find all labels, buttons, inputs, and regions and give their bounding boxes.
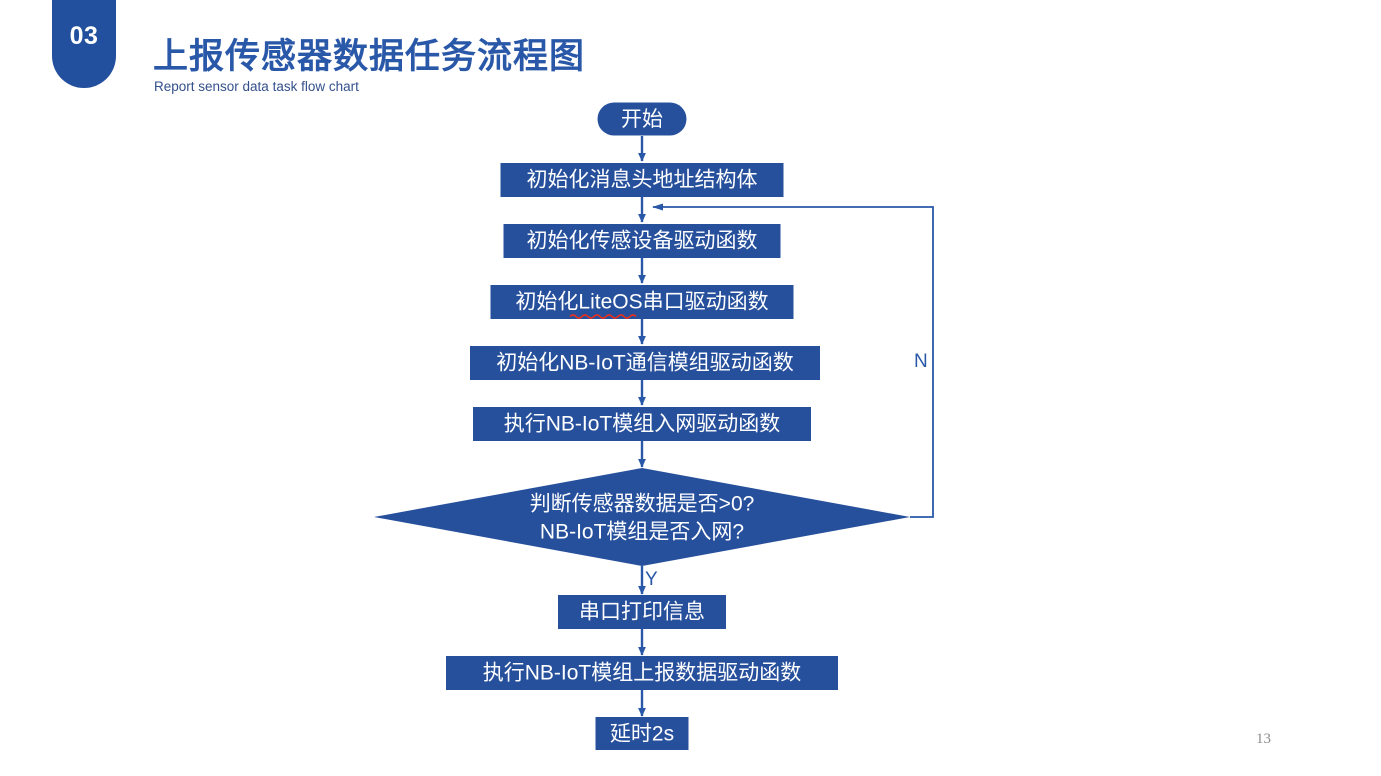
node-init-message-header[interactable]: 初始化消息头地址结构体 <box>501 163 784 197</box>
node-decision[interactable]: 判断传感器数据是否>0? NB-IoT模组是否入网? <box>374 468 910 566</box>
node-delay-label: 延时2s <box>610 723 674 746</box>
node-init-sensor-driver[interactable]: 初始化传感设备驱动函数 <box>504 224 781 258</box>
node-init-nbiot-comm-driver-label: 初始化NB-IoT通信模组驱动函数 <box>496 352 794 375</box>
node-init-liteos-uart-driver[interactable]: 初始化LiteOS串口驱动函数 <box>491 285 794 319</box>
node-uart-print[interactable]: 串口打印信息 <box>558 595 726 629</box>
node-start[interactable]: 开始 <box>598 103 687 136</box>
flowchart-diagram: 开始 初始化消息头地址结构体 初始化传感设备驱动函数 初始化LiteOS串口驱动… <box>0 0 1381 776</box>
node-init-message-header-label: 初始化消息头地址结构体 <box>527 169 758 192</box>
node-exec-nbiot-report-driver[interactable]: 执行NB-IoT模组上报数据驱动函数 <box>446 656 838 690</box>
branch-label-no: N <box>914 351 928 372</box>
node-init-nbiot-comm-driver[interactable]: 初始化NB-IoT通信模组驱动函数 <box>470 346 820 380</box>
node-exec-nbiot-report-driver-label: 执行NB-IoT模组上报数据驱动函数 <box>483 662 802 685</box>
node-start-label: 开始 <box>621 108 663 131</box>
node-init-sensor-driver-label: 初始化传感设备驱动函数 <box>527 230 758 253</box>
node-exec-nbiot-attach-driver-label: 执行NB-IoT模组入网驱动函数 <box>504 413 781 436</box>
node-exec-nbiot-attach-driver[interactable]: 执行NB-IoT模组入网驱动函数 <box>473 407 811 441</box>
node-uart-print-label: 串口打印信息 <box>579 601 705 624</box>
node-decision-label-line1: 判断传感器数据是否>0? <box>530 493 755 516</box>
node-init-liteos-uart-driver-label: 初始化LiteOS串口驱动函数 <box>515 291 768 314</box>
slide-page-number: 13 <box>1256 731 1271 748</box>
node-delay[interactable]: 延时2s <box>596 717 689 750</box>
node-decision-label-line2: NB-IoT模组是否入网? <box>540 521 744 544</box>
branch-label-yes: Y <box>645 569 658 590</box>
